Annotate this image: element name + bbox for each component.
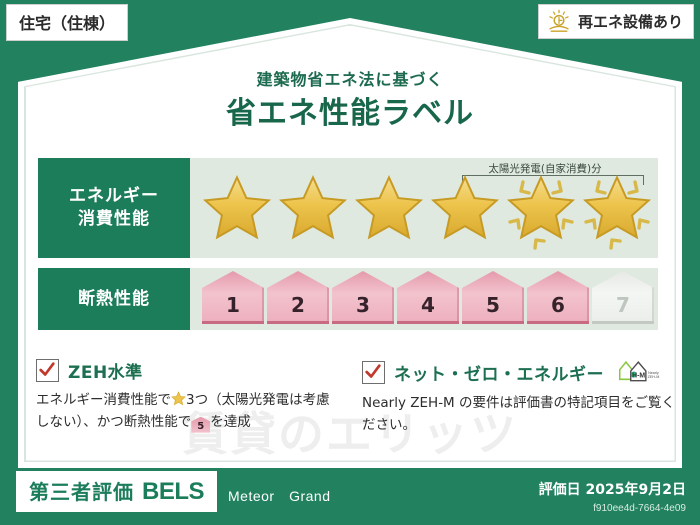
check-icon bbox=[38, 361, 56, 379]
zeh-standard-block: ZEH水準 エネルギー消費性能で 3つ（太陽光発電は考慮しない）、かつ断熱性能で… bbox=[36, 358, 341, 433]
net-zero-energy-header: ネット・ゼロ・エネルギー H-M Nearly ZEH-M bbox=[362, 358, 682, 386]
insulation-label-text: 断熱性能 bbox=[78, 288, 150, 311]
project-name: Meteor Grand bbox=[228, 486, 330, 506]
net-zero-energy-title: ネット・ゼロ・エネルギー bbox=[394, 360, 604, 385]
grade-number: 3 bbox=[356, 293, 370, 324]
star-rating bbox=[200, 162, 654, 254]
insulation-grade-1: 1 bbox=[202, 274, 264, 324]
star-5 bbox=[504, 162, 578, 254]
energy-rating-area: 太陽光発電(自家消費)分 bbox=[190, 158, 658, 258]
grade-number: 7 bbox=[616, 293, 630, 324]
insulation-grade-4: 4 bbox=[397, 274, 459, 324]
star-icon bbox=[431, 174, 499, 242]
zeh-m-logo-icon: H-M Nearly ZEH-M bbox=[617, 358, 661, 386]
star-2 bbox=[276, 162, 350, 254]
grade-number: 6 bbox=[551, 293, 565, 324]
net-zero-energy-checkbox[interactable] bbox=[362, 361, 385, 384]
renewable-label: 再エネ設備あり bbox=[578, 11, 683, 32]
star-6 bbox=[580, 162, 654, 254]
grade-number: 2 bbox=[291, 293, 305, 324]
building-type-label: 住宅（住棟） bbox=[19, 14, 115, 33]
sun-solar-icon bbox=[547, 9, 571, 33]
star-icon bbox=[279, 174, 347, 242]
bels-certification-badge: 第三者評価 BELS bbox=[16, 471, 217, 512]
star-3 bbox=[352, 162, 426, 254]
page-title: 省エネ性能ラベル bbox=[0, 88, 700, 132]
insulation-performance-row: 断熱性能 1234567 bbox=[38, 268, 658, 330]
evaluation-date: 評価日 2025年9月2日 bbox=[539, 479, 686, 499]
energy-label-line2: 消費性能 bbox=[78, 208, 150, 231]
evaluation-id: f910ee4d-7664-4e09 bbox=[593, 503, 686, 514]
star-icon bbox=[203, 174, 271, 242]
svg-text:Nearly: Nearly bbox=[648, 371, 659, 375]
star-1 bbox=[200, 162, 274, 254]
bels-energy-label: 賃貸のエリッツ 住宅（住棟） 再エネ設備あり 建築物省エネ法に基づ bbox=[0, 0, 700, 525]
check-icon bbox=[364, 363, 382, 381]
energy-performance-row: エネルギー 消費性能 太陽光発電(自家消費)分 bbox=[38, 158, 658, 258]
zeh-text-part3: を達成 bbox=[210, 414, 251, 430]
label-subtitle: 建築物省エネ法に基づく bbox=[0, 66, 700, 90]
star-icon bbox=[355, 174, 423, 242]
insulation-grade-scale: 1234567 bbox=[202, 274, 654, 324]
inline-grade-badge: 5 bbox=[191, 417, 210, 433]
grade-number: 4 bbox=[421, 293, 435, 324]
net-zero-energy-description: Nearly ZEH-M の要件は評価書の特記項目をご覧ください。 bbox=[362, 393, 682, 436]
grade-number: 1 bbox=[226, 293, 240, 324]
bels-en-label: BELS bbox=[142, 478, 204, 506]
inline-star-icon bbox=[171, 391, 186, 406]
zeh-standard-description: エネルギー消費性能で 3つ（太陽光発電は考慮しない）、かつ断熱性能で5を達成 bbox=[36, 390, 341, 433]
zeh-standard-header: ZEH水準 bbox=[36, 358, 341, 383]
svg-text:ZEH-M: ZEH-M bbox=[648, 375, 660, 379]
renewable-energy-badge: 再エネ設備あり bbox=[538, 4, 694, 39]
net-zero-energy-block: ネット・ゼロ・エネルギー H-M Nearly ZEH-M Nearly ZEH… bbox=[362, 358, 682, 436]
zeh-standard-checkbox[interactable] bbox=[36, 359, 59, 382]
insulation-grade-7: 7 bbox=[592, 274, 654, 324]
star-sparkle-icon bbox=[580, 166, 654, 252]
energy-performance-label: エネルギー 消費性能 bbox=[38, 158, 190, 258]
insulation-performance-label: 断熱性能 bbox=[38, 268, 190, 330]
building-type-badge: 住宅（住棟） bbox=[6, 4, 128, 41]
insulation-grade-2: 2 bbox=[267, 274, 329, 324]
insulation-grade-5: 5 bbox=[462, 274, 524, 324]
grade-number: 5 bbox=[486, 293, 500, 324]
insulation-grade-3: 3 bbox=[332, 274, 394, 324]
svg-text:H-M: H-M bbox=[632, 372, 645, 379]
energy-label-line1: エネルギー bbox=[69, 185, 159, 208]
zeh-text-part1: エネルギー消費性能で bbox=[36, 392, 171, 408]
insulation-grade-area: 1234567 bbox=[190, 268, 658, 330]
insulation-grade-6: 6 bbox=[527, 274, 589, 324]
bels-jp-label: 第三者評価 bbox=[29, 476, 134, 505]
star-4 bbox=[428, 162, 502, 254]
zeh-standard-title: ZEH水準 bbox=[68, 358, 143, 383]
star-sparkle-icon bbox=[504, 166, 578, 252]
